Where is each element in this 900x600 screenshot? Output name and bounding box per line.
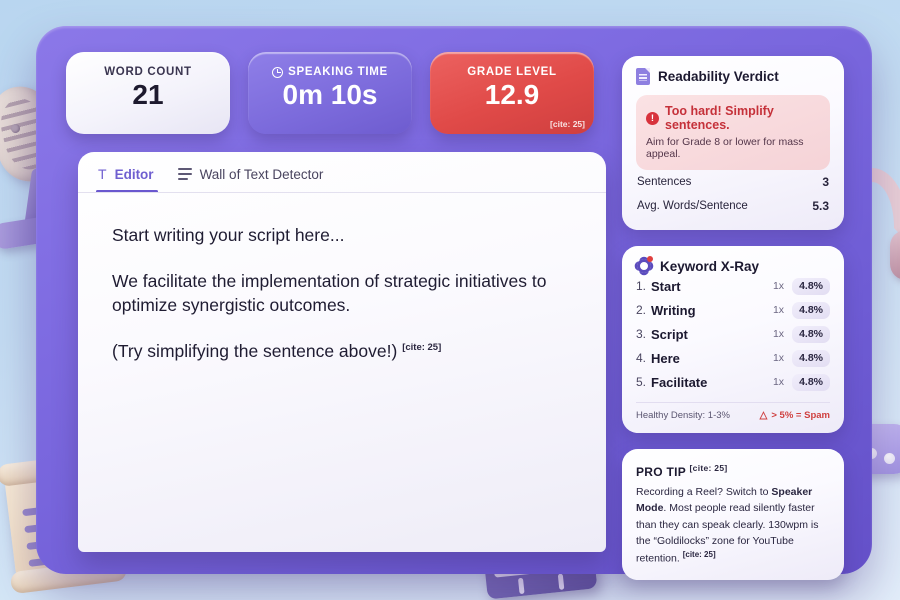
readability-alert-subtext: Aim for Grade 8 or lower for mass appeal… bbox=[646, 136, 820, 160]
keyword-row[interactable]: 5. Facilitate 1x 4.8% bbox=[636, 370, 830, 394]
readability-metric-label: Avg. Words/Sentence bbox=[637, 200, 748, 212]
script-text-area[interactable]: Start writing your script here... We fac… bbox=[78, 193, 606, 364]
keyword-index: 4. bbox=[636, 351, 651, 365]
stat-label-speaking-time-text: SPEAKING TIME bbox=[288, 66, 388, 78]
keyword-word: Writing bbox=[651, 303, 773, 318]
script-paragraph-text: We facilitate the implementation of stra… bbox=[112, 271, 546, 315]
keyword-count: 1x bbox=[773, 304, 784, 316]
pro-tip-body-cite: [cite: 25] bbox=[683, 550, 716, 559]
app-card: WORD COUNT 21 SPEAKING TIME 0m 10s GRADE… bbox=[36, 26, 872, 574]
stat-value-speaking-time: 0m 10s bbox=[248, 80, 412, 111]
stat-cite-grade-level: [cite: 25] bbox=[550, 119, 585, 129]
readability-metric-row: Sentences 3 bbox=[636, 170, 830, 194]
script-paragraph-text: (Try simplifying the sentence above!) bbox=[112, 341, 397, 361]
editor-panel: T Editor Wall of Text Detector Start wri… bbox=[78, 152, 606, 552]
keyword-xray-panel: Keyword X-Ray 1. Start 1x 4.8% 2. Writin… bbox=[622, 246, 844, 433]
spam-threshold-text: > 5% = Spam bbox=[771, 410, 830, 421]
readability-alert-headline: ! Too hard! Simplify sentences. bbox=[646, 104, 820, 132]
readability-verdict-title: Readability Verdict bbox=[636, 68, 830, 85]
microphone-dot-icon bbox=[10, 123, 21, 134]
readability-alert: ! Too hard! Simplify sentences. Aim for … bbox=[636, 95, 830, 170]
sidebar: Readability Verdict ! Too hard! Simplify… bbox=[622, 56, 844, 596]
keyword-index: 3. bbox=[636, 327, 651, 341]
keyword-density-badge: 4.8% bbox=[792, 302, 830, 319]
stat-label-word-count: WORD COUNT bbox=[66, 66, 230, 78]
script-paragraph-text: Start writing your script here... bbox=[112, 225, 344, 245]
list-lines-icon bbox=[178, 168, 192, 179]
stat-value-word-count: 21 bbox=[66, 80, 230, 111]
stat-label-speaking-time: SPEAKING TIME bbox=[248, 66, 412, 78]
warning-triangle-icon: △ bbox=[760, 410, 768, 421]
tab-wall-of-text-detector-label: Wall of Text Detector bbox=[200, 167, 324, 182]
keyword-row[interactable]: 3. Script 1x 4.8% bbox=[636, 322, 830, 346]
script-paragraph: (Try simplifying the sentence above!) [c… bbox=[112, 339, 572, 363]
stat-label-grade-level: GRADE LEVEL bbox=[430, 66, 594, 78]
clock-icon bbox=[272, 67, 283, 78]
readability-alert-headline-text: Too hard! Simplify sentences. bbox=[665, 104, 820, 132]
tab-editor[interactable]: T Editor bbox=[98, 166, 154, 193]
keyword-word: Here bbox=[651, 351, 773, 366]
keyword-density-badge: 4.8% bbox=[792, 278, 830, 295]
script-paragraph: Start writing your script here... bbox=[112, 223, 572, 247]
keyword-row[interactable]: 2. Writing 1x 4.8% bbox=[636, 298, 830, 322]
keyword-density-badge: 4.8% bbox=[792, 374, 830, 391]
keyword-word: Start bbox=[651, 279, 773, 294]
gear-scan-icon bbox=[636, 258, 652, 274]
pro-tip-heading-cite: [cite: 25] bbox=[690, 463, 728, 473]
tab-wall-of-text-detector[interactable]: Wall of Text Detector bbox=[178, 167, 324, 193]
pro-tip-heading: PRO TIP [cite: 25] bbox=[636, 463, 830, 479]
keyword-row[interactable]: 1. Start 1x 4.8% bbox=[636, 274, 830, 298]
keyword-density-badge: 4.8% bbox=[792, 350, 830, 367]
script-paragraph: We facilitate the implementation of stra… bbox=[112, 269, 572, 317]
readability-metric-value: 3 bbox=[822, 175, 829, 189]
keyword-count: 1x bbox=[773, 280, 784, 292]
keyword-xray-title-text: Keyword X-Ray bbox=[660, 259, 759, 274]
stats-row: WORD COUNT 21 SPEAKING TIME 0m 10s GRADE… bbox=[66, 52, 626, 134]
keyword-density-badge: 4.8% bbox=[792, 326, 830, 343]
document-icon bbox=[636, 68, 650, 85]
readability-metric-row: Avg. Words/Sentence 5.3 bbox=[636, 194, 830, 218]
readability-metric-label: Sentences bbox=[637, 176, 691, 188]
script-paragraph-cite: [cite: 25] bbox=[402, 343, 441, 354]
stat-card-word-count[interactable]: WORD COUNT 21 bbox=[66, 52, 230, 134]
pro-tip-body: Recording a Reel? Switch to Speaker Mode… bbox=[636, 484, 830, 567]
stat-value-grade-level: 12.9 bbox=[430, 80, 594, 111]
keyword-word: Script bbox=[651, 327, 773, 342]
pro-tip-body-part1: Recording a Reel? Switch to bbox=[636, 486, 771, 498]
spam-threshold-note: △ > 5% = Spam bbox=[760, 410, 830, 421]
keyword-row[interactable]: 4. Here 1x 4.8% bbox=[636, 346, 830, 370]
editor-tabs: T Editor Wall of Text Detector bbox=[78, 152, 606, 193]
keyword-index: 1. bbox=[636, 279, 651, 293]
keyword-index: 5. bbox=[636, 375, 651, 389]
readability-verdict-panel: Readability Verdict ! Too hard! Simplify… bbox=[622, 56, 844, 230]
stat-card-grade-level[interactable]: GRADE LEVEL 12.9 [cite: 25] bbox=[430, 52, 594, 134]
pro-tip-heading-text: PRO TIP bbox=[636, 465, 686, 479]
keyword-count: 1x bbox=[773, 376, 784, 388]
text-format-icon: T bbox=[98, 166, 107, 182]
keyword-index: 2. bbox=[636, 303, 651, 317]
tab-editor-label: Editor bbox=[115, 167, 154, 182]
pro-tip-panel: PRO TIP [cite: 25] Recording a Reel? Swi… bbox=[622, 449, 844, 580]
healthy-density-note: Healthy Density: 1-3% bbox=[636, 410, 730, 421]
readability-verdict-title-text: Readability Verdict bbox=[658, 69, 779, 84]
readability-metric-value: 5.3 bbox=[812, 199, 829, 213]
keyword-xray-title: Keyword X-Ray bbox=[636, 258, 830, 274]
keyword-word: Facilitate bbox=[651, 375, 773, 390]
keyword-xray-footer: Healthy Density: 1-3% △ > 5% = Spam bbox=[636, 402, 830, 421]
keyword-count: 1x bbox=[773, 352, 784, 364]
pro-tip-body-part2: . Most people read silently faster than … bbox=[636, 502, 818, 564]
tab-divider bbox=[78, 192, 606, 193]
keyword-count: 1x bbox=[773, 328, 784, 340]
exclamation-circle-icon: ! bbox=[646, 112, 659, 125]
stat-card-speaking-time[interactable]: SPEAKING TIME 0m 10s bbox=[248, 52, 412, 134]
